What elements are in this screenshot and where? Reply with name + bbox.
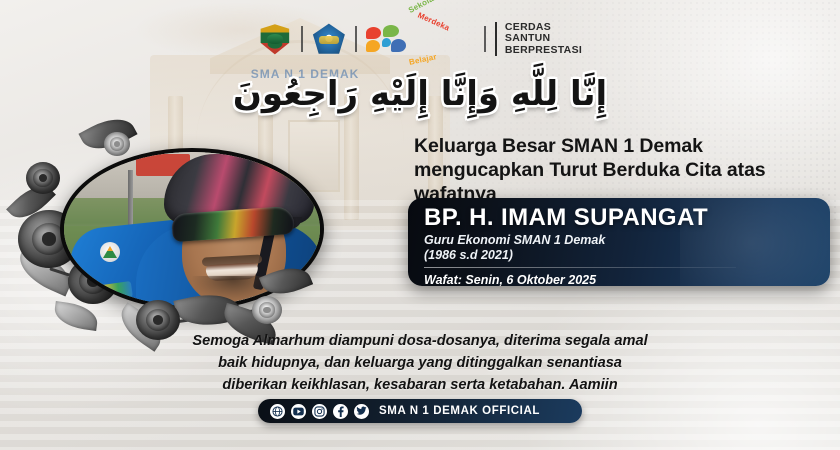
- website-globe-icon[interactable]: [270, 404, 285, 419]
- deceased-passing-date: Wafat: Senin, 6 Oktober 2025: [424, 273, 830, 286]
- memorial-poster: SMA N 1 DEMAK Sekolah Merdeka Belajar CE…: [0, 0, 840, 450]
- prayer-line-1: Semoga Almarhum diampuni dosa-dosanya, d…: [60, 330, 780, 352]
- prayer-line-2: baik hidupnya, dan keluarga yang ditingg…: [60, 352, 780, 374]
- condolence-headline: Keluarga Besar SMAN 1 Demak mengucapkan …: [414, 134, 824, 206]
- prayer-text: Semoga Almarhum diampuni dosa-dosanya, d…: [60, 330, 780, 396]
- rose-decoration-foreground: [8, 118, 358, 348]
- twitter-icon[interactable]: [354, 404, 369, 419]
- deceased-service-years: (1986 s.d 2021): [424, 248, 830, 263]
- rose-flower: [252, 296, 282, 324]
- header-logo-strip: Sekolah Merdeka Belajar CERDAS SANTUN BE…: [0, 16, 840, 62]
- tagline-line-3: BERPRESTASI: [505, 45, 582, 57]
- instagram-icon[interactable]: [312, 404, 327, 419]
- prayer-line-3: diberikan keikhlasan, kesabaran serta ke…: [60, 374, 780, 396]
- kabupaten-demak-crest-icon: [258, 23, 292, 55]
- deceased-name: BP. H. IMAM SUPANGAT: [424, 205, 830, 231]
- logo-divider: [301, 26, 303, 52]
- logo-divider: [355, 26, 357, 52]
- deceased-role: Guru Ekonomi SMAN 1 Demak: [424, 233, 830, 248]
- school-tagline: CERDAS SANTUN BERPRESTASI: [495, 22, 582, 57]
- social-handle: SMA N 1 DEMAK OFFICIAL: [379, 405, 540, 417]
- facebook-icon[interactable]: [333, 404, 348, 419]
- tut-wuri-handayani-crest-icon: [312, 23, 346, 55]
- merdeka-belajar-mark-icon: [366, 25, 406, 53]
- youtube-icon[interactable]: [291, 404, 306, 419]
- deceased-info-panel: BP. H. IMAM SUPANGAT Guru Ekonomi SMAN 1…: [408, 198, 830, 286]
- arabic-calligraphy: إِنَّا لِلَّهِ وَإِنَّا إِلَيْهِ رَاجِعُ…: [0, 68, 840, 120]
- portrait-zone: [8, 118, 358, 348]
- logo-divider: [484, 26, 486, 52]
- panel-divider: [424, 267, 736, 268]
- rose-leaf: [53, 301, 100, 331]
- social-media-bar: SMA N 1 DEMAK OFFICIAL: [258, 399, 582, 423]
- inna-lillahi-text: إِنَّا لِلَّهِ وَإِنَّا إِلَيْهِ رَاجِعُ…: [233, 74, 607, 114]
